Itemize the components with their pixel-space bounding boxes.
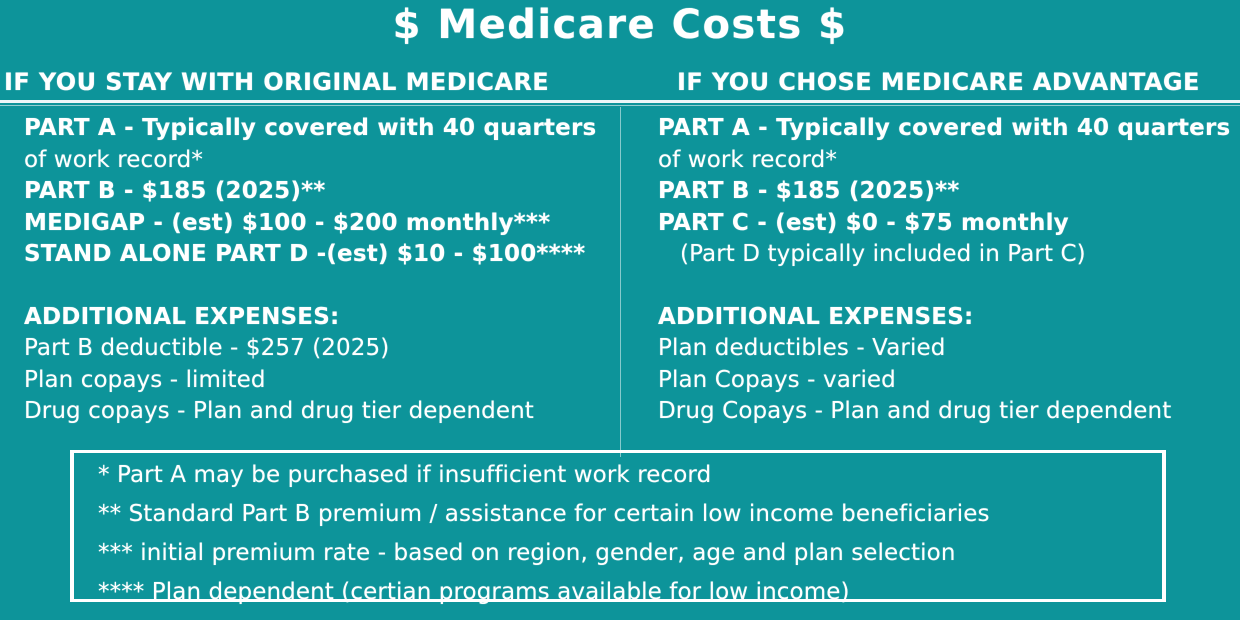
footnote-item: *** initial premium rate - based on regi… (98, 534, 1158, 573)
plan-line: STAND ALONE PART D -(est) $10 - $100**** (24, 239, 612, 271)
column-heading-original-medicare: IF YOU STAY WITH ORIGINAL MEDICARE (4, 68, 549, 96)
plan-line: PART A - Typically covered with 40 quart… (24, 113, 612, 145)
plan-line: MEDIGAP - (est) $100 - $200 monthly*** (24, 208, 612, 240)
footnote-box: * Part A may be purchased if insufficien… (70, 450, 1166, 602)
column-heading-medicare-advantage: IF YOU CHOSE MEDICARE ADVANTAGE (677, 68, 1200, 96)
heading-double-rule (0, 100, 1240, 107)
additional-expenses-heading: ADDITIONAL EXPENSES: (24, 302, 612, 334)
footnote-item: ** Standard Part B premium / assistance … (98, 495, 1158, 534)
footnote-item: **** Plan dependent (certian programs av… (98, 573, 1158, 612)
footnote-list: * Part A may be purchased if insufficien… (98, 456, 1158, 612)
expense-line: Plan Copays - varied (658, 365, 1234, 397)
plan-line: PART A - Typically covered with 40 quart… (658, 113, 1234, 145)
plan-line: PART B - $185 (2025)** (24, 176, 612, 208)
column-original-medicare: PART A - Typically covered with 40 quart… (24, 113, 612, 428)
footnote-item: * Part A may be purchased if insufficien… (98, 456, 1158, 495)
section-spacer (24, 271, 612, 302)
column-medicare-advantage: PART A - Typically covered with 40 quart… (658, 113, 1234, 428)
plan-line: PART B - $185 (2025)** (658, 176, 1234, 208)
expense-line: Plan deductibles - Varied (658, 333, 1234, 365)
section-spacer (658, 271, 1234, 302)
plan-line: PART C - (est) $0 - $75 monthly (658, 208, 1234, 240)
expense-line: Drug copays - Plan and drug tier depende… (24, 396, 612, 428)
expense-line: Drug Copays - Plan and drug tier depende… (658, 396, 1234, 428)
plan-line: of work record* (24, 145, 612, 177)
plan-line: of work record* (658, 145, 1234, 177)
additional-expenses-heading: ADDITIONAL EXPENSES: (658, 302, 1234, 334)
column-headings: IF YOU STAY WITH ORIGINAL MEDICARE IF YO… (0, 68, 1240, 98)
page-title: $ Medicare Costs $ (0, 2, 1240, 48)
column-divider-line (620, 107, 621, 457)
rule-thick-line (0, 100, 1240, 103)
expense-line: Plan copays - limited (24, 365, 612, 397)
expense-line: Part B deductible - $257 (2025) (24, 333, 612, 365)
plan-line: (Part D typically included in Part C) (658, 239, 1234, 271)
rule-thin-line (0, 105, 1240, 106)
